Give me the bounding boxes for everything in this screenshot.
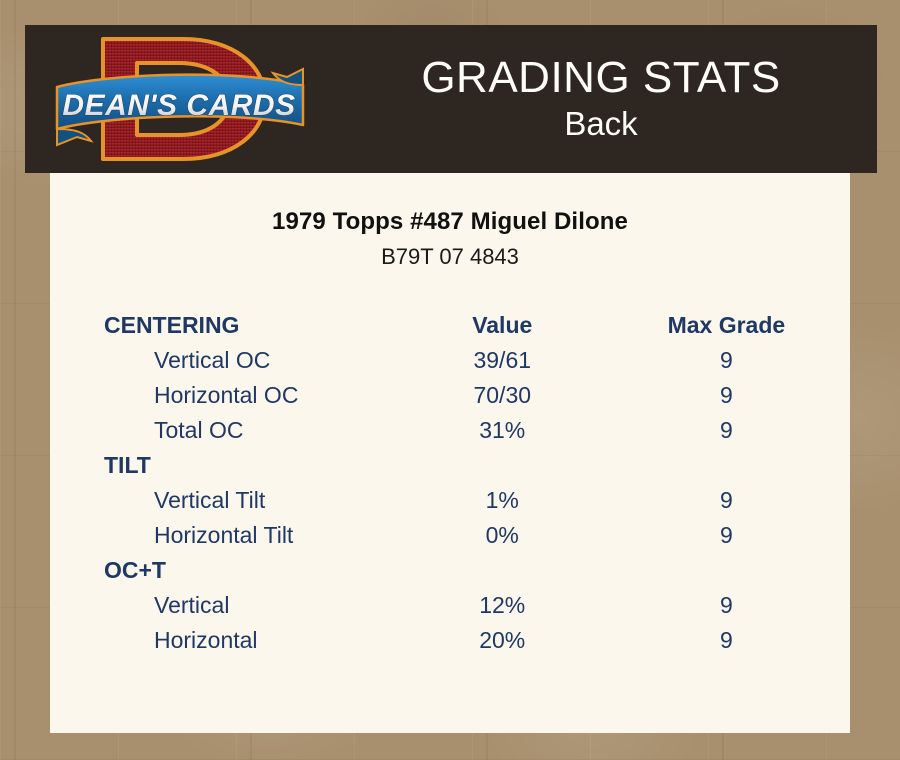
stat-max-grade: 9 xyxy=(603,623,850,658)
stat-value: 20% xyxy=(402,623,603,658)
table-row: Total OC31%9 xyxy=(50,413,850,448)
table-row: Horizontal20%9 xyxy=(50,623,850,658)
stat-max-grade: 9 xyxy=(603,413,850,448)
max-grade-column-header xyxy=(603,448,850,483)
section-header-row: TILT xyxy=(50,448,850,483)
section-name: OC+T xyxy=(50,553,402,588)
page-subtitle: Back xyxy=(564,103,637,144)
max-grade-column-header: Max Grade xyxy=(603,308,850,343)
page-title: GRADING STATS xyxy=(421,54,780,102)
table-row: Vertical12%9 xyxy=(50,588,850,623)
stat-label: Vertical OC xyxy=(50,343,402,378)
section-name: TILT xyxy=(50,448,402,483)
card-serial-number: B79T 07 4843 xyxy=(50,244,850,270)
value-column-header: Value xyxy=(402,308,603,343)
stat-value: 39/61 xyxy=(402,343,603,378)
section-header-row: OC+T xyxy=(50,553,850,588)
stat-max-grade: 9 xyxy=(603,483,850,518)
stat-value: 12% xyxy=(402,588,603,623)
section-name: CENTERING xyxy=(50,308,402,343)
stat-label: Vertical Tilt xyxy=(50,483,402,518)
value-column-header xyxy=(402,553,603,588)
content-panel: 1979 Topps #487 Miguel Dilone B79T 07 48… xyxy=(50,173,850,733)
header-band: DEAN'S CARDS GRADING STATS Back xyxy=(25,25,877,173)
value-column-header xyxy=(402,448,603,483)
stat-label: Horizontal xyxy=(50,623,402,658)
stat-max-grade: 9 xyxy=(603,588,850,623)
table-row: Vertical Tilt1%9 xyxy=(50,483,850,518)
grading-stats-table: CENTERINGValueMax GradeVertical OC39/619… xyxy=(50,308,850,658)
stat-value: 31% xyxy=(402,413,603,448)
table-row: Horizontal Tilt0%9 xyxy=(50,518,850,553)
table-row: Horizontal OC70/309 xyxy=(50,378,850,413)
stat-label: Total OC xyxy=(50,413,402,448)
stat-max-grade: 9 xyxy=(603,378,850,413)
stat-value: 70/30 xyxy=(402,378,603,413)
stat-label: Horizontal OC xyxy=(50,378,402,413)
stat-max-grade: 9 xyxy=(603,518,850,553)
stat-label: Horizontal Tilt xyxy=(50,518,402,553)
section-header-row: CENTERINGValueMax Grade xyxy=(50,308,850,343)
stat-value: 1% xyxy=(402,483,603,518)
deans-cards-logo[interactable]: DEAN'S CARDS xyxy=(51,29,311,169)
stat-label: Vertical xyxy=(50,588,402,623)
grading-stats-body: CENTERINGValueMax GradeVertical OC39/619… xyxy=(50,308,850,658)
logo-wordmark: DEAN'S CARDS xyxy=(62,89,295,122)
table-row: Vertical OC39/619 xyxy=(50,343,850,378)
stat-max-grade: 9 xyxy=(603,343,850,378)
card-title: 1979 Topps #487 Miguel Dilone xyxy=(50,208,850,236)
logo-svg: DEAN'S CARDS xyxy=(51,29,311,169)
header-title-group: GRADING STATS Back xyxy=(325,25,877,173)
stat-value: 0% xyxy=(402,518,603,553)
max-grade-column-header xyxy=(603,553,850,588)
